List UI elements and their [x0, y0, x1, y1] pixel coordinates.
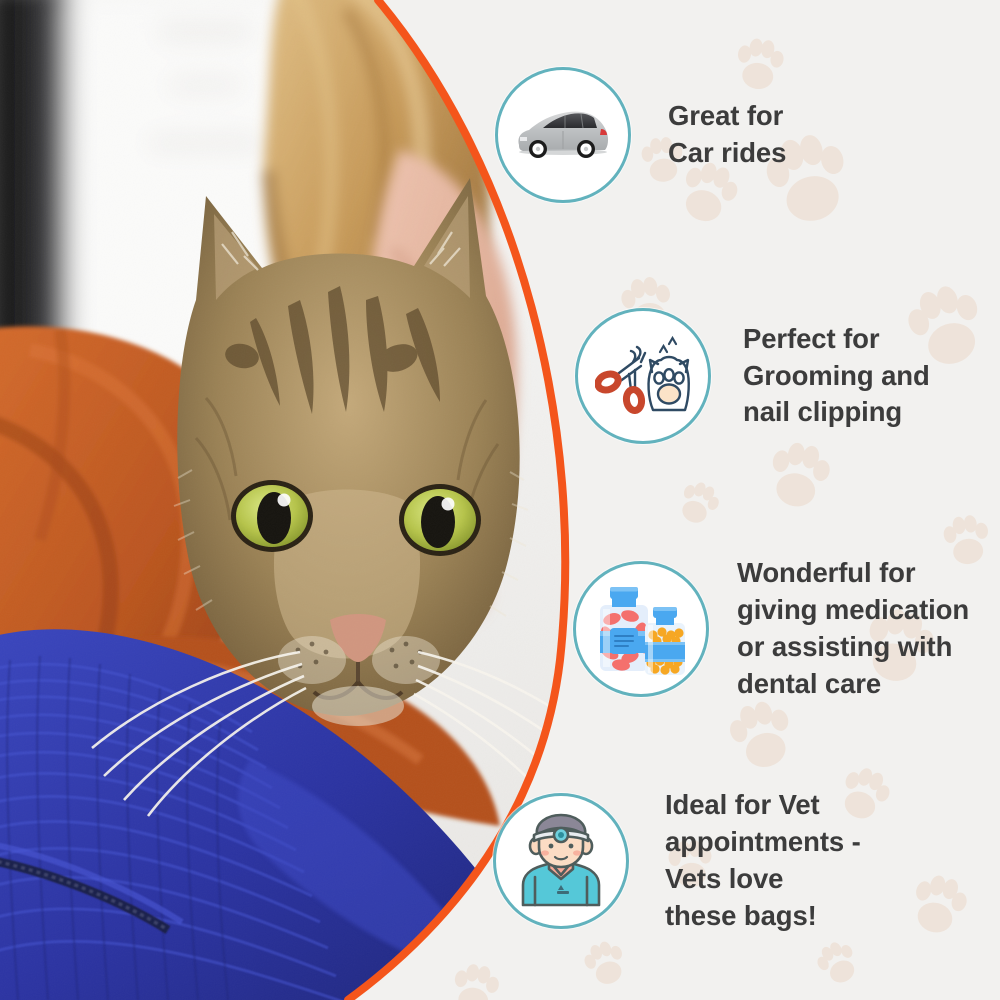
feature-icon-circle: [493, 793, 629, 929]
veterinarian-icon: [515, 813, 607, 909]
feature-grooming[interactable]: Perfect for Grooming and nail clipping: [575, 308, 930, 444]
feature-label: Great for Car rides: [668, 98, 786, 172]
feature-label: Wonderful for giving medication or assis…: [737, 555, 969, 702]
feature-label: Ideal for Vet appointments - Vets love t…: [665, 787, 861, 934]
feature-icon-circle: [575, 308, 711, 444]
feature-label: Perfect for Grooming and nail clipping: [743, 321, 930, 432]
product-feature-infographic: Great for Car rides: [0, 0, 1000, 1000]
feature-medication[interactable]: Wonderful for giving medication or assis…: [573, 555, 969, 702]
feature-icon-circle: [495, 67, 631, 203]
nail-clipper-paw-icon: [595, 332, 691, 420]
feature-icon-circle: [573, 561, 709, 697]
feature-car-rides[interactable]: Great for Car rides: [495, 67, 786, 203]
car-icon: [513, 99, 613, 171]
pill-bottles-icon: [590, 583, 692, 675]
feature-vet[interactable]: Ideal for Vet appointments - Vets love t…: [493, 787, 861, 934]
